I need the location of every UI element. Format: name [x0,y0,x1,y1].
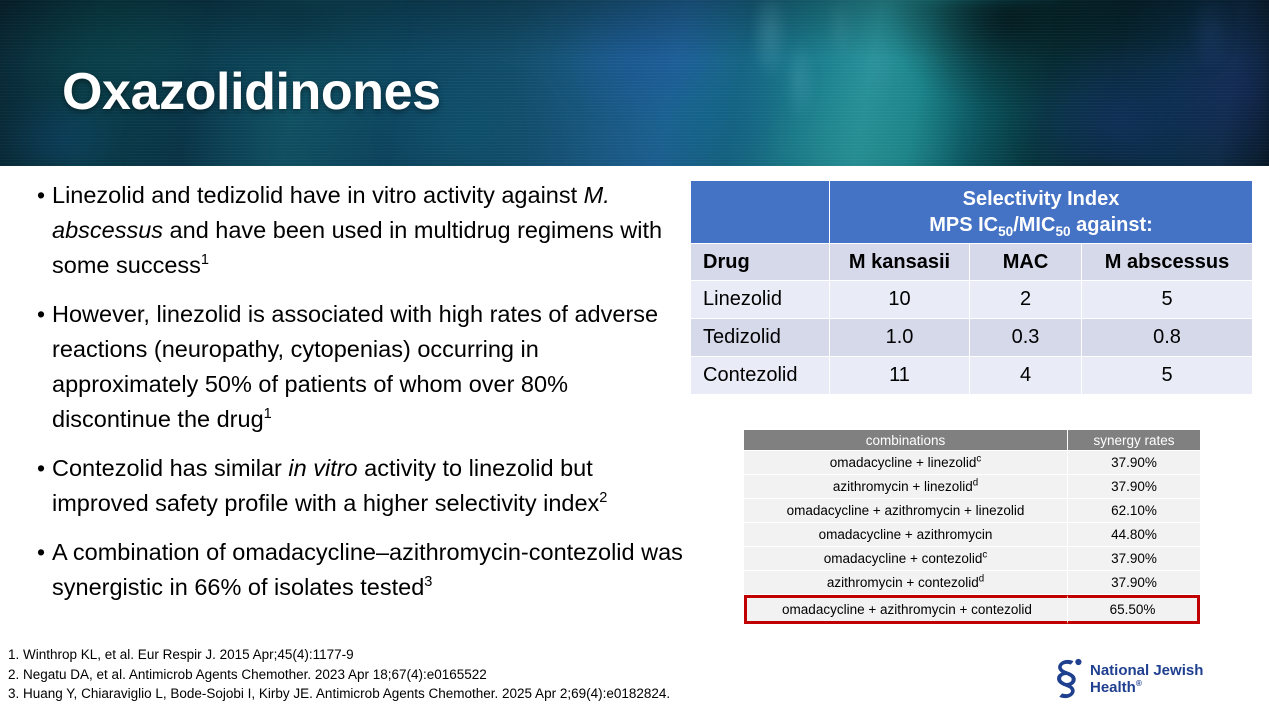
table-row: azithromycin + linezolidd37.90% [744,475,1200,498]
selectivity-index-table: Selectivity Index MPS IC50/MIC50 against… [690,180,1253,395]
bullet-marker-icon: • [30,178,52,213]
bullet-text: Linezolid and tedizolid have in vitro ac… [52,178,690,283]
bullet-contezolid-safety: •Contezolid has similar in vitro activit… [30,451,690,521]
bullet-text: However, linezolid is associated with hi… [52,297,690,437]
table-row: Linezolid1025 [691,281,1252,318]
cell-synergy-rate: 62.10% [1068,499,1200,522]
table-row: omadacycline + azithromycin44.80% [744,523,1200,546]
bullet-marker-icon: • [30,297,52,332]
cell-combination: azithromycin + linezolidd [744,475,1068,498]
cell-combination: omadacycline + azithromycin [744,523,1068,546]
group-header-selectivity-index: Selectivity Index MPS IC50/MIC50 against… [830,181,1252,243]
national-jewish-health-helix-icon [1048,658,1084,700]
cell-m-abscessus: 0.8 [1082,319,1252,356]
cell-combination: omadacycline + contezolidc [744,547,1068,570]
column-header-mac: MAC [970,244,1081,280]
cell-m-kansasii: 10 [830,281,969,318]
cell-combination: omadacycline + azithromycin + linezolid [744,499,1068,522]
organization-logo: National Jewish Health® [1048,656,1248,702]
reference-item: 2. Negatu DA, et al. Antimicrob Agents C… [8,665,1008,685]
cell-synergy-rate: 37.90% [1068,547,1200,570]
bullet-marker-icon: • [30,451,52,486]
combinations-table-body: omadacycline + linezolidc37.90%azithromy… [744,451,1200,624]
cell-synergy-rate: 65.50% [1068,595,1200,624]
bullet-combination-synergy: •A combination of omadacycline–azithromy… [30,535,690,605]
combinations-header-row: combinations synergy rates [744,430,1200,450]
cell-m-kansasii: 11 [830,357,969,394]
group-header-spacer [691,181,829,243]
page-title: Oxazolidinones [62,62,441,122]
column-header-drug: Drug [691,244,829,280]
slide-header-banner: Oxazolidinones [0,0,1269,166]
bullet-linezolid-adverse-reactions: •However, linezolid is associated with h… [30,297,690,437]
cell-combination: omadacycline + linezolidc [744,451,1068,474]
cell-drug: Contezolid [691,357,829,394]
bullet-linezolid-tedizolid-activity: •Linezolid and tedizolid have in vitro a… [30,178,690,283]
cell-synergy-rate: 37.90% [1068,451,1200,474]
bullet-marker-icon: • [30,535,52,570]
bullet-text: A combination of omadacycline–azithromyc… [52,535,690,605]
cell-m-kansasii: 1.0 [830,319,969,356]
bullet-text: Contezolid has similar in vitro activity… [52,451,690,521]
table-group-header-row: Selectivity Index MPS IC50/MIC50 against… [691,181,1252,243]
column-header-m-abscessus: M abscessus [1082,244,1252,280]
logo-line1: National Jewish [1090,662,1203,679]
group-header-line2: MPS IC50/MIC50 against: [830,212,1252,238]
cell-m-abscessus: 5 [1082,281,1252,318]
group-header-line1: Selectivity Index [830,186,1252,212]
table-row: omadacycline + azithromycin + linezolid6… [744,499,1200,522]
reference-item: 1. Winthrop KL, et al. Eur Respir J. 201… [8,645,1008,665]
column-header-m-kansasii: M kansasii [830,244,969,280]
cell-mac: 2 [970,281,1081,318]
table-row: omadacycline + contezolidc37.90% [744,547,1200,570]
table-row: omadacycline + linezolidc37.90% [744,451,1200,474]
cell-combination: omadacycline + azithromycin + contezolid [744,595,1068,624]
table-row: azithromycin + contezolidd37.90% [744,571,1200,594]
cell-m-abscessus: 5 [1082,357,1252,394]
column-header-combinations: combinations [744,430,1068,450]
bullet-list: •Linezolid and tedizolid have in vitro a… [30,178,690,619]
column-header-synergy-rates: synergy rates [1068,430,1200,450]
reference-item: 3. Huang Y, Chiaraviglio L, Bode-Sojobi … [8,684,1008,704]
cell-mac: 4 [970,357,1081,394]
references-list: 1. Winthrop KL, et al. Eur Respir J. 201… [8,645,1008,704]
cell-synergy-rate: 37.90% [1068,571,1200,594]
table-column-header-row: Drug M kansasii MAC M abscessus [691,244,1252,280]
cell-combination: azithromycin + contezolidd [744,571,1068,594]
table-row: Tedizolid1.00.30.8 [691,319,1252,356]
logo-wordmark: National Jewish Health® [1090,662,1203,696]
cell-drug: Linezolid [691,281,829,318]
table-row-highlighted: omadacycline + azithromycin + contezolid… [744,595,1200,624]
cell-synergy-rate: 37.90% [1068,475,1200,498]
cell-mac: 0.3 [970,319,1081,356]
cell-drug: Tedizolid [691,319,829,356]
selectivity-table-body: Linezolid1025Tedizolid1.00.30.8Contezoli… [691,281,1252,394]
cell-synergy-rate: 44.80% [1068,523,1200,546]
logo-trademark: ® [1136,679,1142,688]
combinations-synergy-table: combinations synergy rates omadacycline … [744,429,1200,625]
logo-line2: Health [1090,679,1136,696]
table-row: Contezolid1145 [691,357,1252,394]
